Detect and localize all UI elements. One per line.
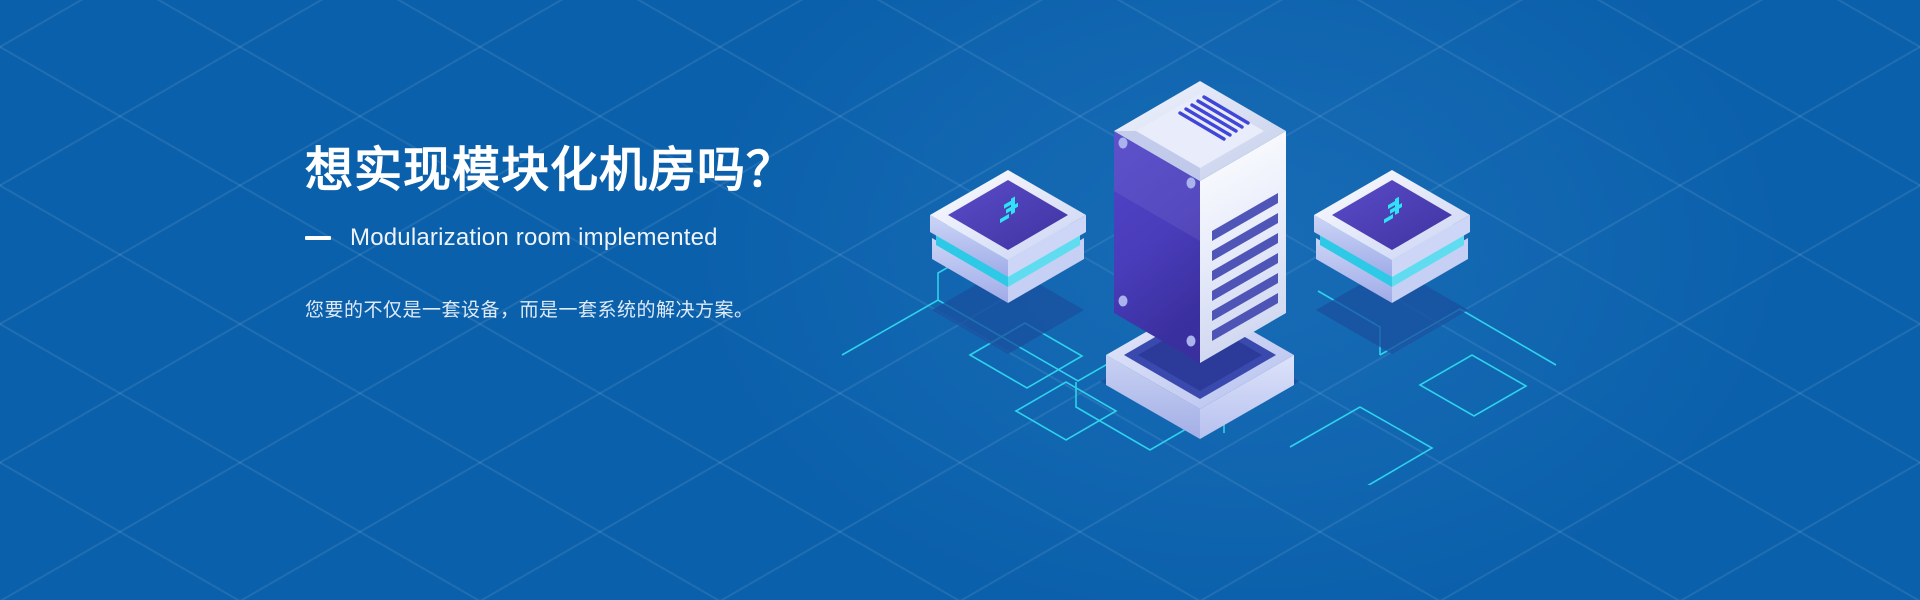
isometric-server-illustration — [820, 55, 1580, 485]
dash-icon — [305, 236, 331, 240]
subheadline: Modularization room implemented — [350, 224, 718, 252]
server-tower — [1100, 81, 1300, 439]
hero-banner: 想实现模块化机房吗？ Modularization room implement… — [0, 0, 1920, 600]
chip-module-left — [930, 170, 1086, 354]
chip-module-right — [1314, 170, 1470, 354]
